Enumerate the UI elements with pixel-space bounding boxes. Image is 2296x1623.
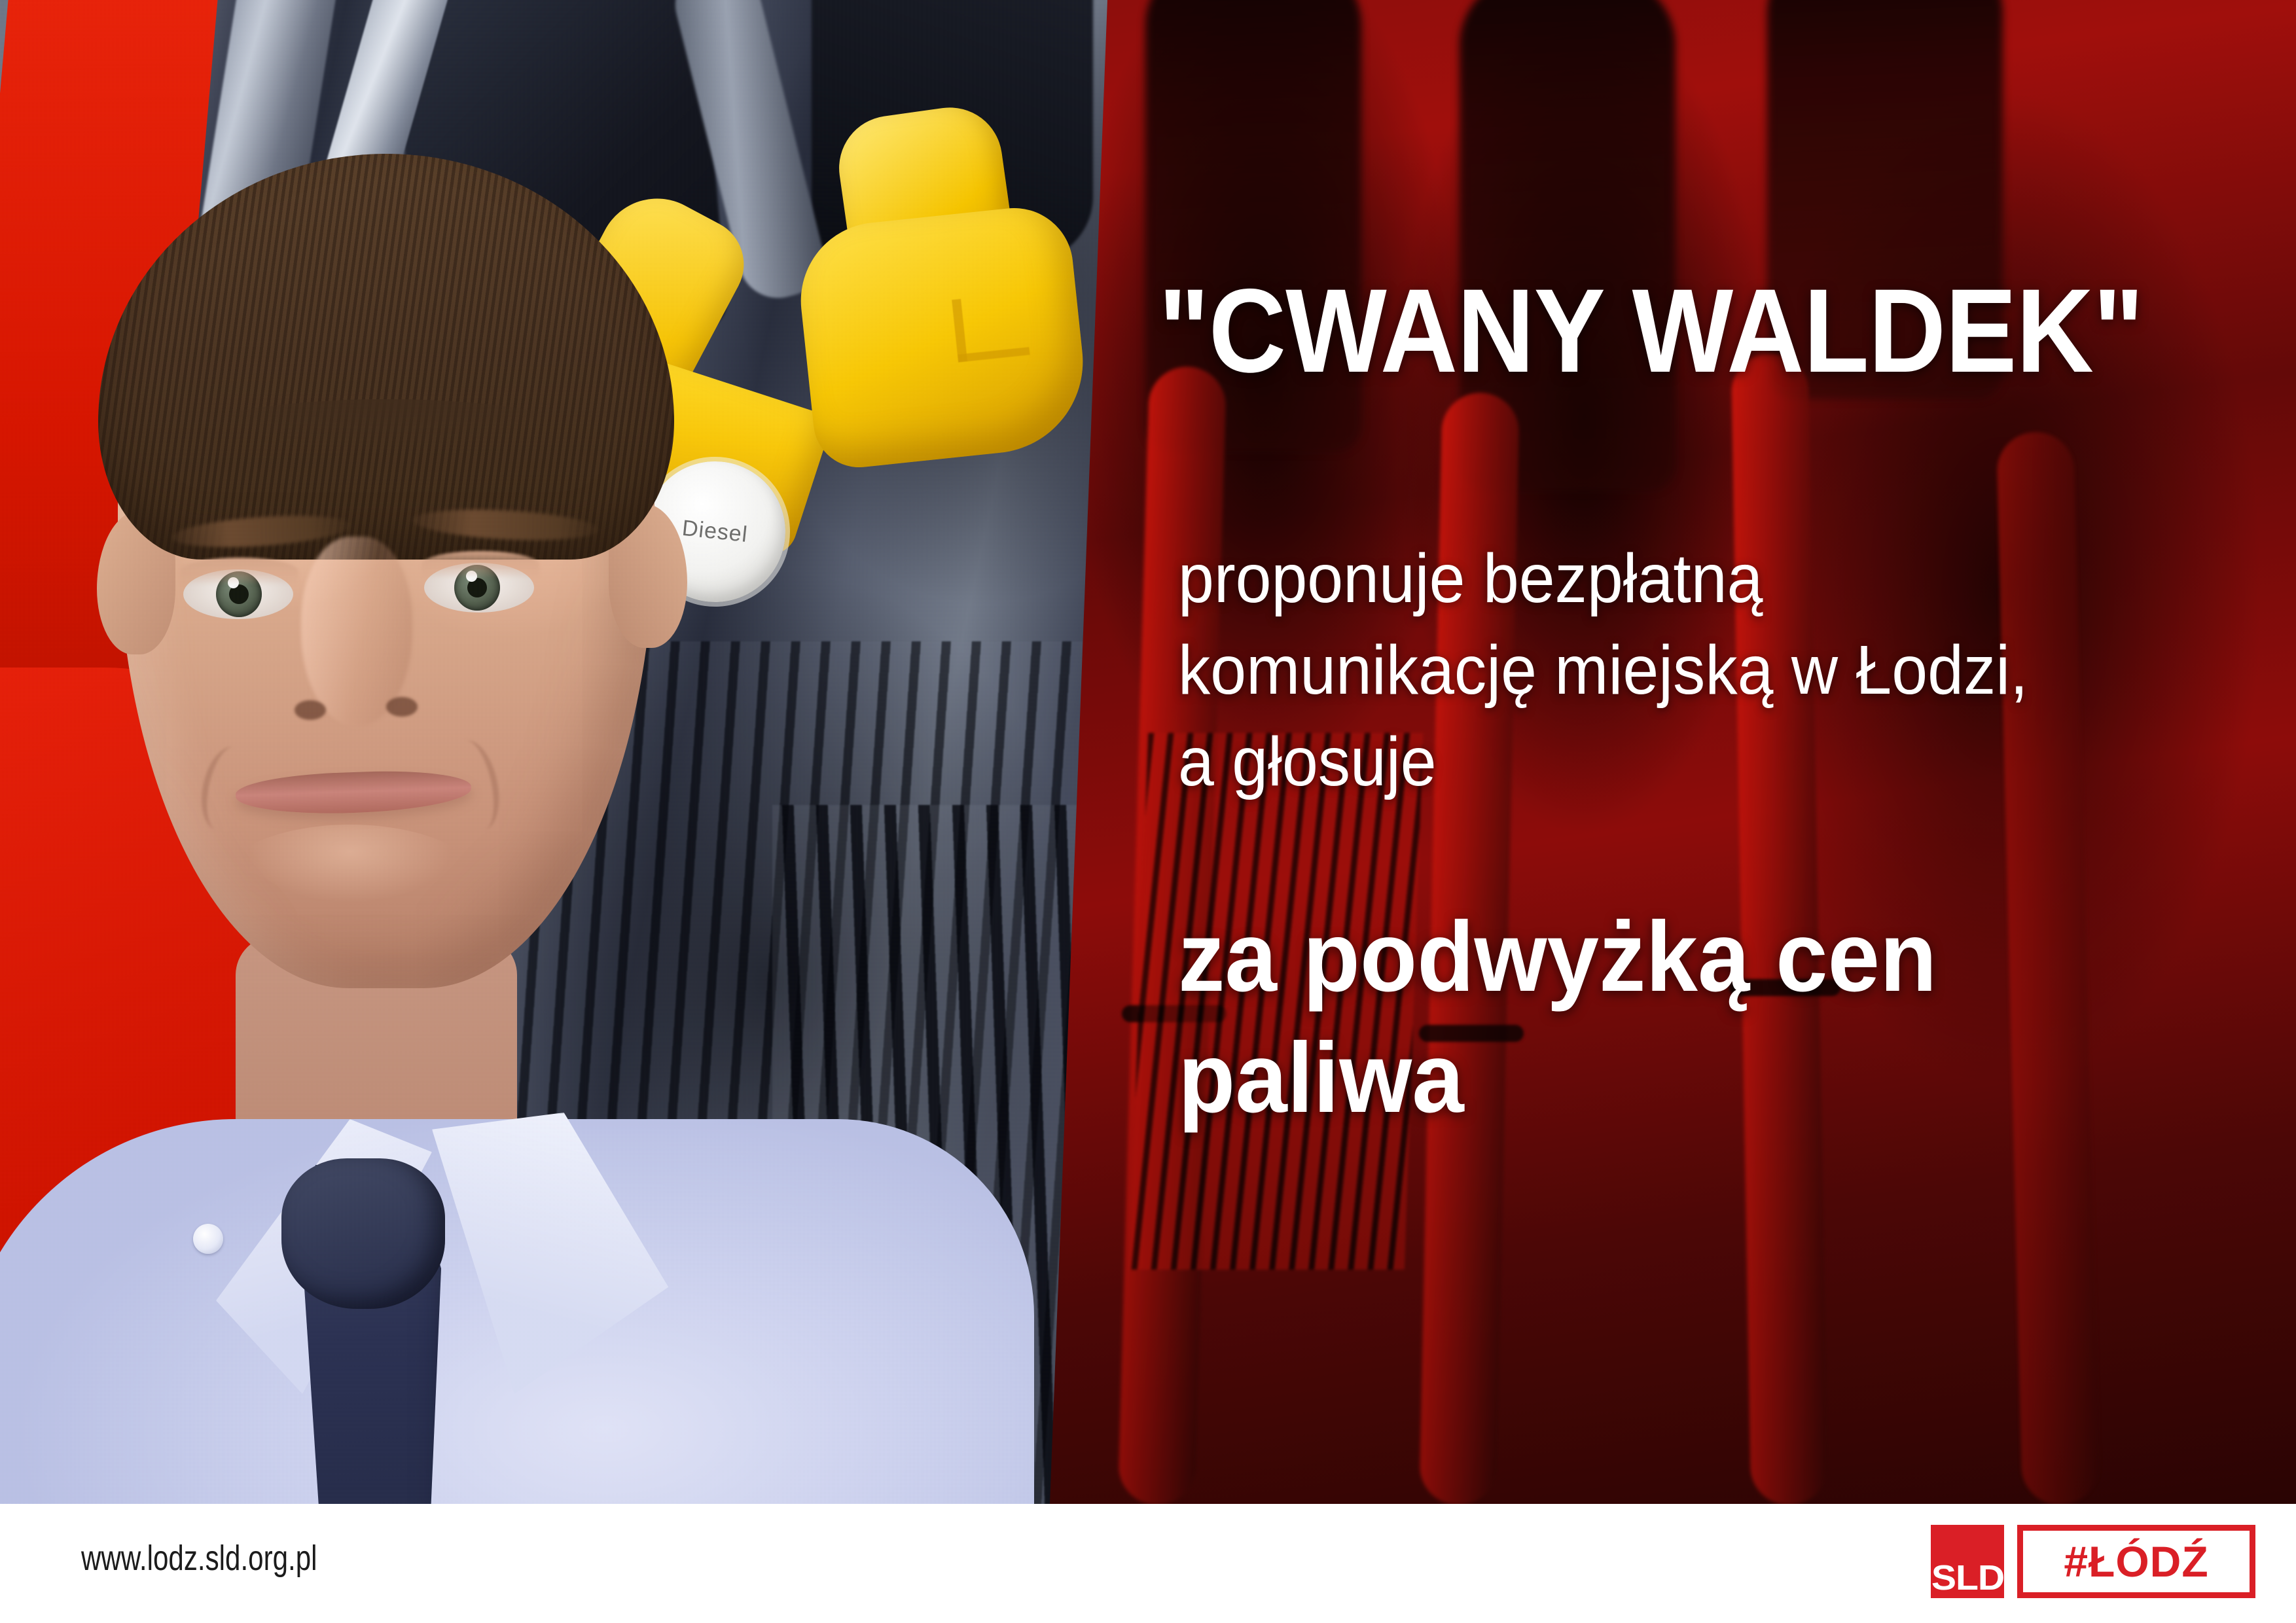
logo-group: SLD #ŁÓDŹ <box>1931 1525 2255 1598</box>
necktie-knot <box>281 1158 445 1309</box>
poster-kicker: za podwyżką cen paliwa <box>1178 897 2236 1139</box>
hairline-shadow <box>137 399 635 517</box>
body-line: komunikację miejską w Łodzi, <box>1178 625 2225 717</box>
lodz-badge[interactable]: #ŁÓDŹ <box>2017 1525 2255 1598</box>
candidate-portrait <box>20 118 988 1504</box>
poster-body-copy: proponuje bezpłatną komunikację miejską … <box>1178 533 2225 808</box>
gas-station-photo: Diesel <box>0 0 1126 1504</box>
poster-footer: www.lodz.sld.org.pl SLD #ŁÓDŹ <box>0 1504 2296 1623</box>
lodz-badge-text: #ŁÓDŹ <box>2064 1540 2208 1583</box>
website-url[interactable]: www.lodz.sld.org.pl <box>81 1538 317 1578</box>
body-line: a głosuje <box>1178 717 2225 808</box>
kicker-line: paliwa <box>1178 1018 2236 1139</box>
chin-highlight <box>209 825 491 962</box>
shirt-button <box>193 1224 223 1254</box>
eyelid-left <box>181 558 298 585</box>
poster-headline: "CWANY WALDEK" <box>1158 262 2183 399</box>
poster-copy: "CWANY WALDEK" proponuje bezpłatną komun… <box>1152 0 2296 1504</box>
nostril-left <box>295 700 326 720</box>
kicker-line: za podwyżką cen <box>1178 897 2236 1018</box>
nostril-right <box>386 697 418 717</box>
sld-logo[interactable]: SLD <box>1931 1525 2004 1598</box>
eyelid-right <box>422 551 539 579</box>
body-line: proponuje bezpłatną <box>1178 533 2225 625</box>
campaign-poster: Diesel <box>0 0 2296 1504</box>
sld-logo-text: SLD <box>1931 1562 2003 1595</box>
